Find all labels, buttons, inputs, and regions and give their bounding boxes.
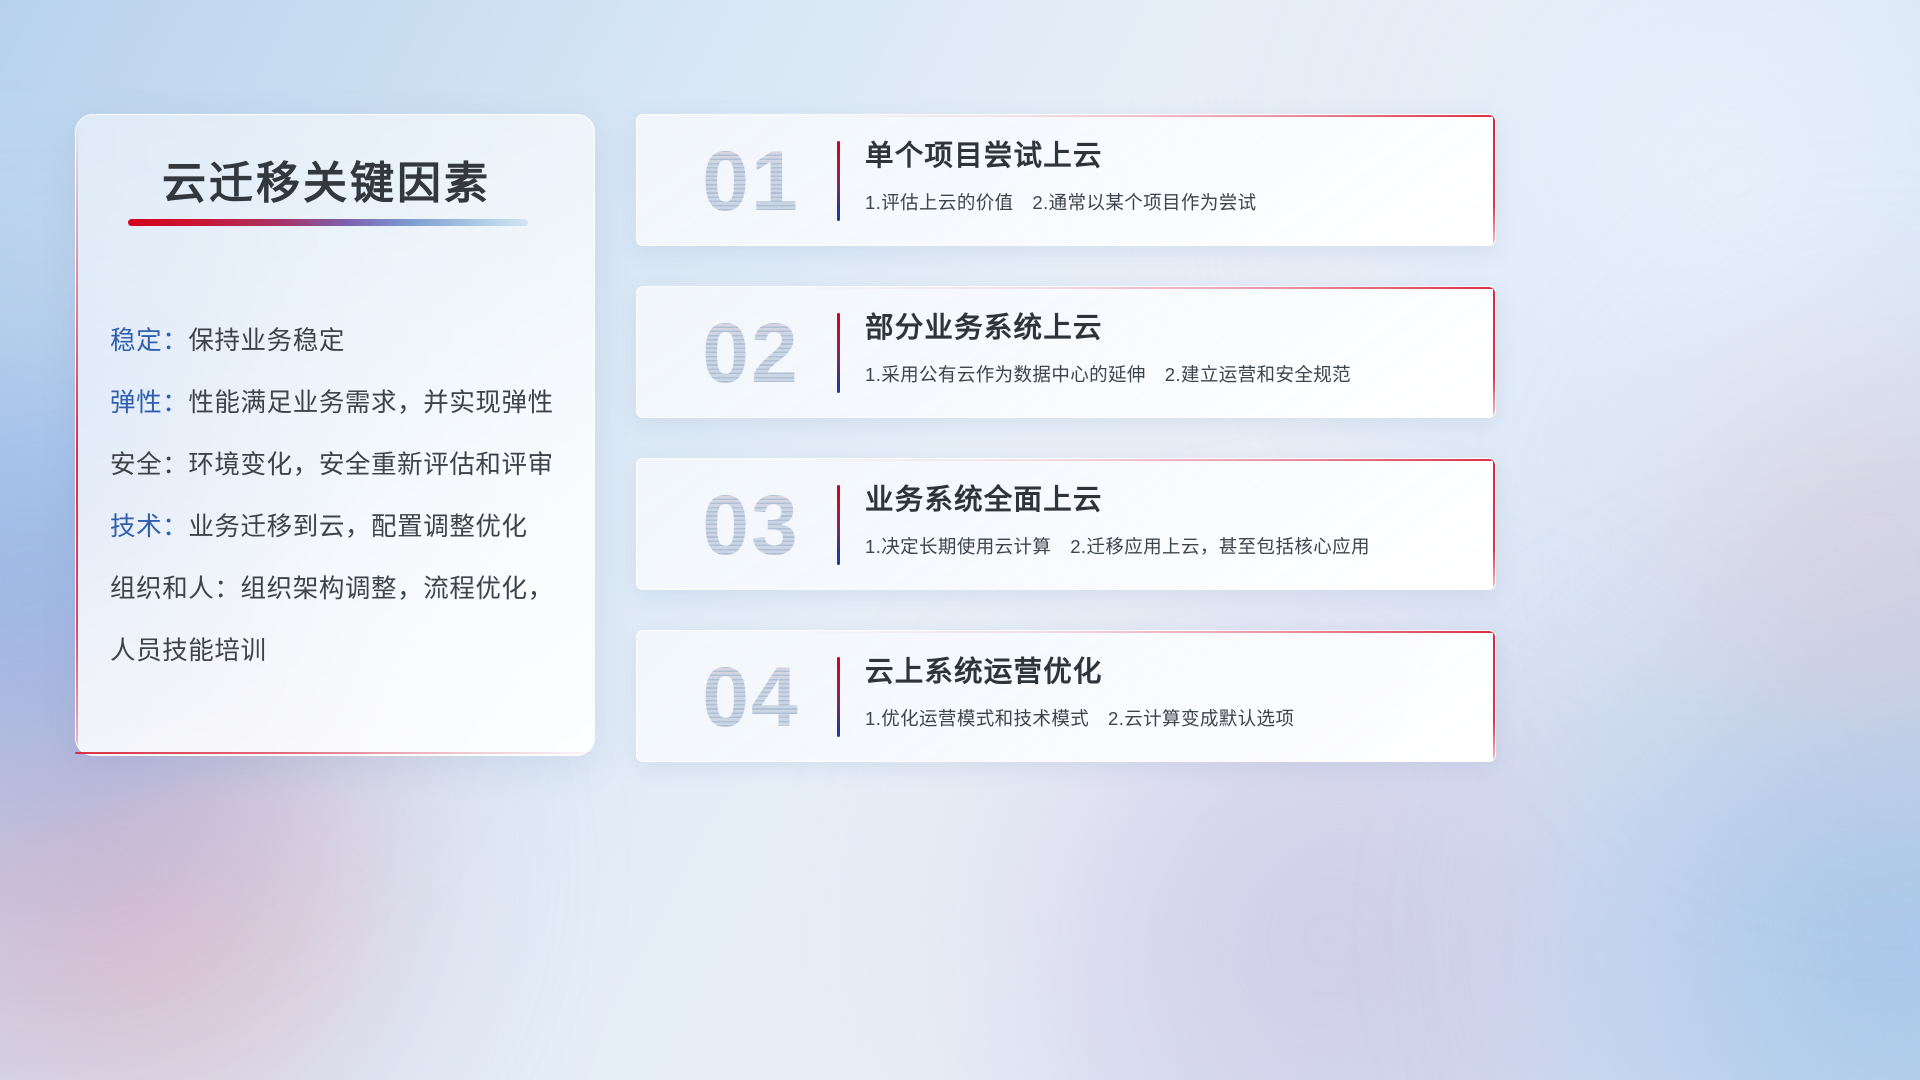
step-card-01[interactable]: 01 单个项目尝试上云 1.评估上云的价值 2.通常以某个项目作为尝试 [636, 114, 1496, 246]
factor-label: 技术： [110, 513, 188, 541]
step-number-watermark: 01 [661, 125, 841, 237]
key-factors-list: 稳定：保持业务稳定 弹性：性能满足业务需求，并实现弹性 安全：环境变化，安全重新… [110, 310, 580, 682]
step-subtitle: 1.评估上云的价值 2.通常以某个项目作为尝试 [865, 189, 1473, 217]
step-title: 单个项目尝试上云 [865, 135, 1473, 177]
step-card-02[interactable]: 02 部分业务系统上云 1.采用公有云作为数据中心的延伸 2.建立运营和安全规范 [636, 286, 1496, 418]
step-subtitle: 1.采用公有云作为数据中心的延伸 2.建立运营和安全规范 [865, 361, 1473, 389]
factor-label: 弹性： [110, 389, 188, 417]
slide-canvas: 云迁移关键因素 稳定：保持业务稳定 弹性：性能满足业务需求，并实现弹性 安全：环… [0, 0, 1920, 1080]
factor-text: 人员技能培训 [110, 637, 267, 665]
page-title: 云迁移关键因素 [162, 147, 491, 211]
list-item: 人员技能培训 [110, 620, 580, 682]
factor-text: 业务迁移到云，配置调整优化 [188, 513, 527, 541]
list-item: 技术：业务迁移到云，配置调整优化 [110, 496, 580, 558]
title-underline-gradient [128, 219, 528, 226]
step-body: 云上系统运营优化 1.优化运营模式和技术模式 2.云计算变成默认选项 [865, 651, 1473, 733]
step-title: 业务系统全面上云 [865, 479, 1473, 521]
list-item: 弹性：性能满足业务需求，并实现弹性 [110, 372, 580, 434]
factor-text: 性能满足业务需求，并实现弹性 [188, 389, 553, 417]
list-item: 稳定：保持业务稳定 [110, 310, 580, 372]
step-divider-bar [837, 141, 840, 221]
step-divider-bar [837, 313, 840, 393]
key-factors-panel: 云迁移关键因素 稳定：保持业务稳定 弹性：性能满足业务需求，并实现弹性 安全：环… [75, 114, 595, 756]
step-body: 业务系统全面上云 1.决定长期使用云计算 2.迁移应用上云，甚至包括核心应用 [865, 479, 1473, 561]
list-item: 安全：环境变化，安全重新评估和评审 [110, 434, 580, 496]
step-divider-bar [837, 657, 840, 737]
step-card-04[interactable]: 04 云上系统运营优化 1.优化运营模式和技术模式 2.云计算变成默认选项 [636, 630, 1496, 762]
step-card-03[interactable]: 03 业务系统全面上云 1.决定长期使用云计算 2.迁移应用上云，甚至包括核心应… [636, 458, 1496, 590]
factor-label: 安全： [110, 451, 188, 479]
step-divider-bar [837, 485, 840, 565]
step-subtitle: 1.决定长期使用云计算 2.迁移应用上云，甚至包括核心应用 [865, 533, 1473, 561]
step-body: 单个项目尝试上云 1.评估上云的价值 2.通常以某个项目作为尝试 [865, 135, 1473, 217]
step-number-watermark: 03 [661, 469, 841, 581]
step-number-watermark: 04 [661, 641, 841, 753]
factor-text: 保持业务稳定 [188, 327, 345, 355]
step-title: 部分业务系统上云 [865, 307, 1473, 349]
step-subtitle: 1.优化运营模式和技术模式 2.云计算变成默认选项 [865, 705, 1473, 733]
step-number-watermark: 02 [661, 297, 841, 409]
factor-label: 稳定： [110, 327, 188, 355]
steps-column: 01 单个项目尝试上云 1.评估上云的价值 2.通常以某个项目作为尝试 02 部… [636, 114, 1496, 802]
step-body: 部分业务系统上云 1.采用公有云作为数据中心的延伸 2.建立运营和安全规范 [865, 307, 1473, 389]
factor-text: 组织架构调整，流程优化， [241, 575, 554, 603]
step-title: 云上系统运营优化 [865, 651, 1473, 693]
factor-text: 环境变化，安全重新评估和评审 [188, 451, 553, 479]
factor-label: 组织和人： [110, 575, 241, 603]
list-item: 组织和人：组织架构调整，流程优化， [110, 558, 580, 620]
